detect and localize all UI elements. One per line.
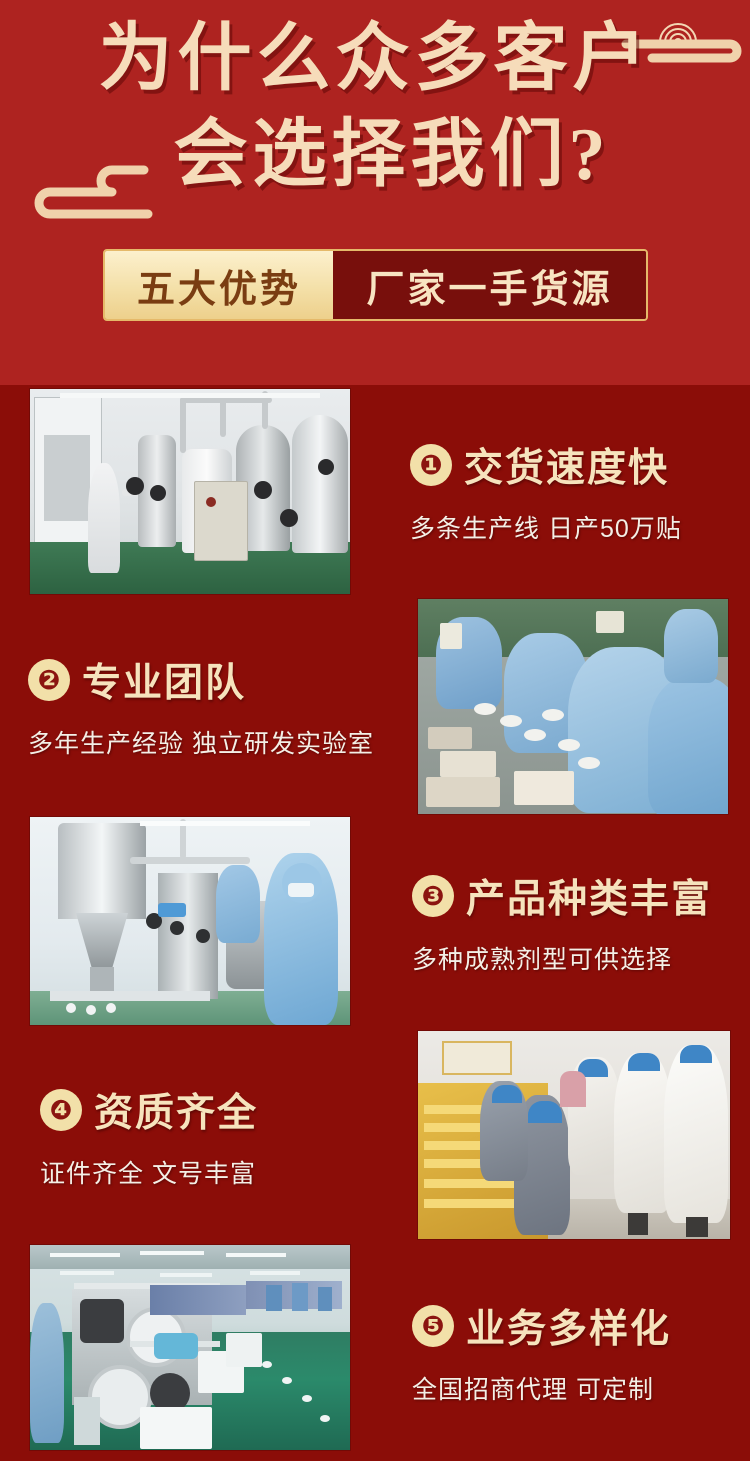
feature-text-4: ❹ 资质齐全 证件齐全 文号丰富: [40, 1029, 380, 1243]
feature-subtitle-2: 多年生产经验 独立研发实验室: [28, 724, 374, 760]
badge-right-label: 厂家一手货源: [333, 251, 646, 319]
feature-number-2: ❷: [28, 659, 70, 701]
poster-header: 为什么众多客户 会选择我们? 五大优势 厂家一手货源: [0, 0, 750, 385]
feature-text-2: ❷ 专业团队 多年生产经验 独立研发实验室: [28, 597, 368, 815]
badge-left-label: 五大优势: [105, 251, 333, 319]
feature-title-5: 业务多样化: [466, 1298, 671, 1354]
title-line-1: 为什么众多客户: [99, 18, 652, 100]
feature-photo-1: [30, 389, 350, 594]
feature-text-3: ❸ 产品种类丰富 多种成熟剂型可供选择: [412, 815, 750, 1029]
feature-title-3: 产品种类丰富: [466, 868, 712, 924]
promo-poster: 为什么众多客户 会选择我们? 五大优势 厂家一手货源: [0, 0, 750, 1461]
feature-number-5: ❺: [412, 1305, 454, 1347]
feature-subtitle-5: 全国招商代理 可定制: [412, 1370, 654, 1406]
feature-photo-5: [30, 1245, 350, 1450]
feature-number-4: ❹: [40, 1089, 82, 1131]
ribbon-line-ornament: [16, 152, 166, 224]
feature-block-1: ❶ 交货速度快 多条生产线 日产50万贴: [0, 385, 750, 597]
feature-block-4: ❹ 资质齐全 证件齐全 文号丰富: [0, 1029, 750, 1243]
feature-photo-2: [418, 599, 728, 814]
feature-title-4: 资质齐全: [94, 1082, 258, 1138]
feature-photo-4: [418, 1031, 730, 1239]
feature-text-5: ❺ 业务多样化 全国招商代理 可定制: [412, 1243, 750, 1461]
feature-photo-3: [30, 817, 350, 1025]
feature-block-5: ❺ 业务多样化 全国招商代理 可定制: [0, 1243, 750, 1461]
feature-title-1: 交货速度快: [464, 437, 669, 493]
feature-text-1: ❶ 交货速度快 多条生产线 日产50万贴: [410, 385, 750, 597]
feature-number-1: ❶: [410, 444, 452, 486]
feature-subtitle-3: 多种成熟剂型可供选择: [412, 940, 672, 976]
feature-title-2: 专业团队: [82, 652, 246, 708]
feature-block-3: ❸ 产品种类丰富 多种成熟剂型可供选择: [0, 815, 750, 1029]
feature-number-3: ❸: [412, 875, 454, 917]
advantages-badge-bar: 五大优势 厂家一手货源: [103, 249, 648, 321]
feature-block-2: ❷ 专业团队 多年生产经验 独立研发实验室: [0, 597, 750, 815]
feature-subtitle-1: 多条生产线 日产50万贴: [410, 509, 682, 545]
feature-subtitle-4: 证件齐全 文号丰富: [40, 1154, 256, 1190]
